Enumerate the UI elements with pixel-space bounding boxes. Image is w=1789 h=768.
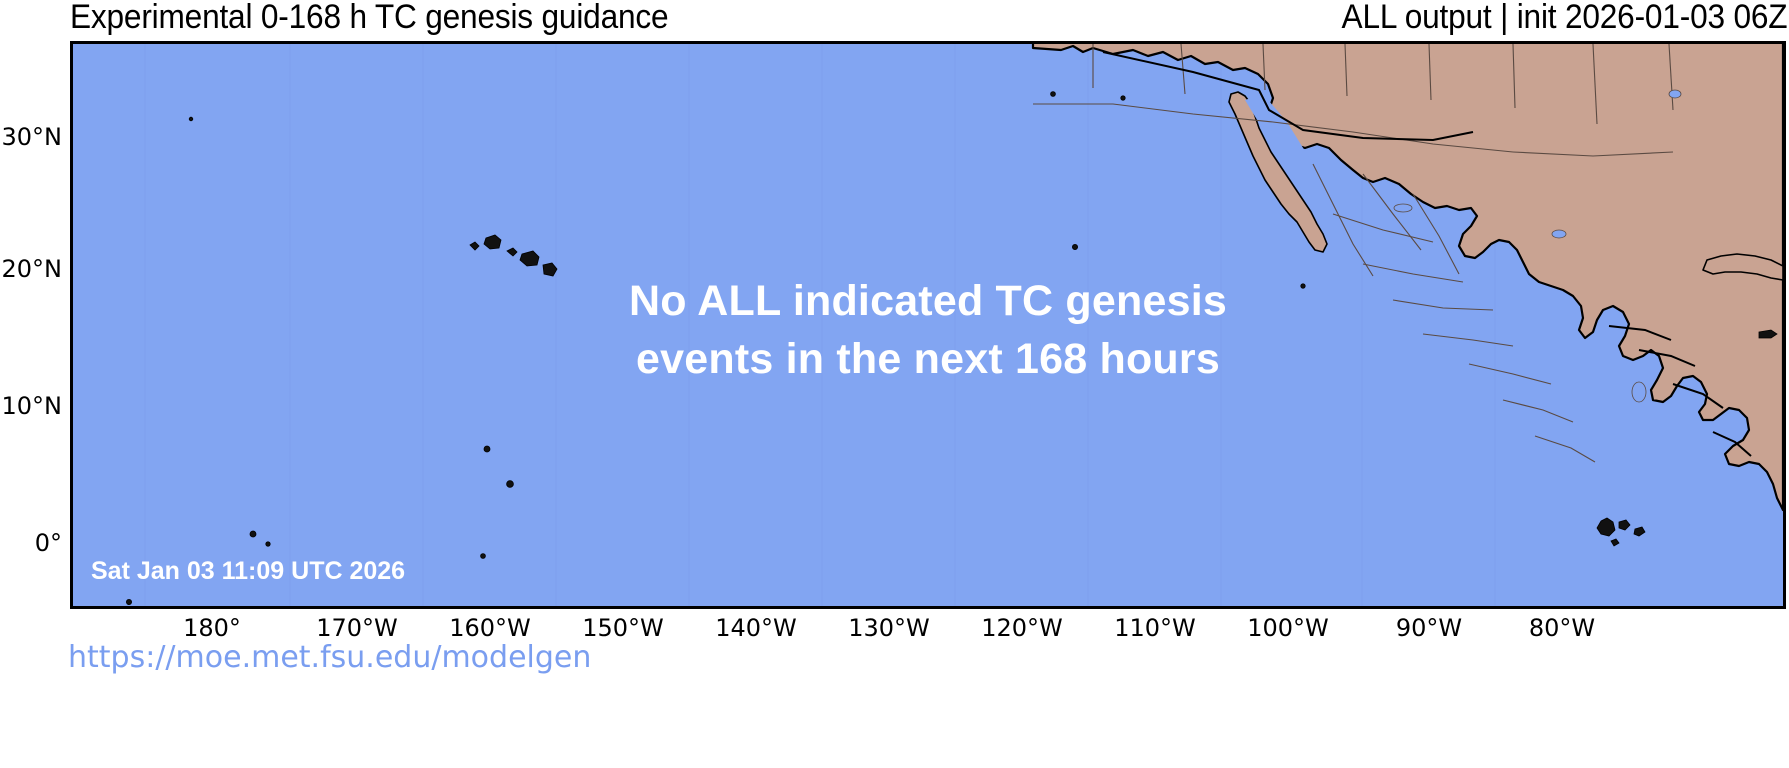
x-tick-label: 90°W [1396, 614, 1462, 642]
x-tick-label: 130°W [848, 614, 930, 642]
x-tick-label: 100°W [1247, 614, 1329, 642]
x-tick-label: 120°W [981, 614, 1063, 642]
y-tick-label: 30°N [62, 123, 123, 151]
x-tick-label: 150°W [582, 614, 664, 642]
x-tick-label: 140°W [715, 614, 797, 642]
page-subtitle-init: ALL output | init 2026-01-03 06Z [1341, 0, 1787, 37]
y-tick-label: 20°N [62, 255, 123, 283]
x-tick-label: 160°W [449, 614, 531, 642]
x-tick-label: 180° [183, 614, 241, 642]
y-tick-label: 0° [62, 529, 89, 557]
x-tick-label: 110°W [1114, 614, 1196, 642]
source-url-link[interactable]: https://moe.met.fsu.edu/modelgen [68, 640, 591, 675]
header: Experimental 0-168 h TC genesis guidance… [0, 0, 1789, 40]
plot-timestamp: Sat Jan 03 11:09 UTC 2026 [91, 557, 405, 586]
map-canvas[interactable]: .land { fill:#c9a392; stroke:#000; strok… [70, 41, 1786, 609]
tc-genesis-guidance-page: Experimental 0-168 h TC genesis guidance… [0, 0, 1789, 768]
page-title: Experimental 0-168 h TC genesis guidance [70, 0, 668, 37]
map-graphic: .land { fill:#c9a392; stroke:#000; strok… [73, 44, 1783, 606]
y-tick-label: 10°N [62, 392, 123, 420]
x-tick-label: 170°W [316, 614, 398, 642]
x-tick-label: 80°W [1529, 614, 1595, 642]
